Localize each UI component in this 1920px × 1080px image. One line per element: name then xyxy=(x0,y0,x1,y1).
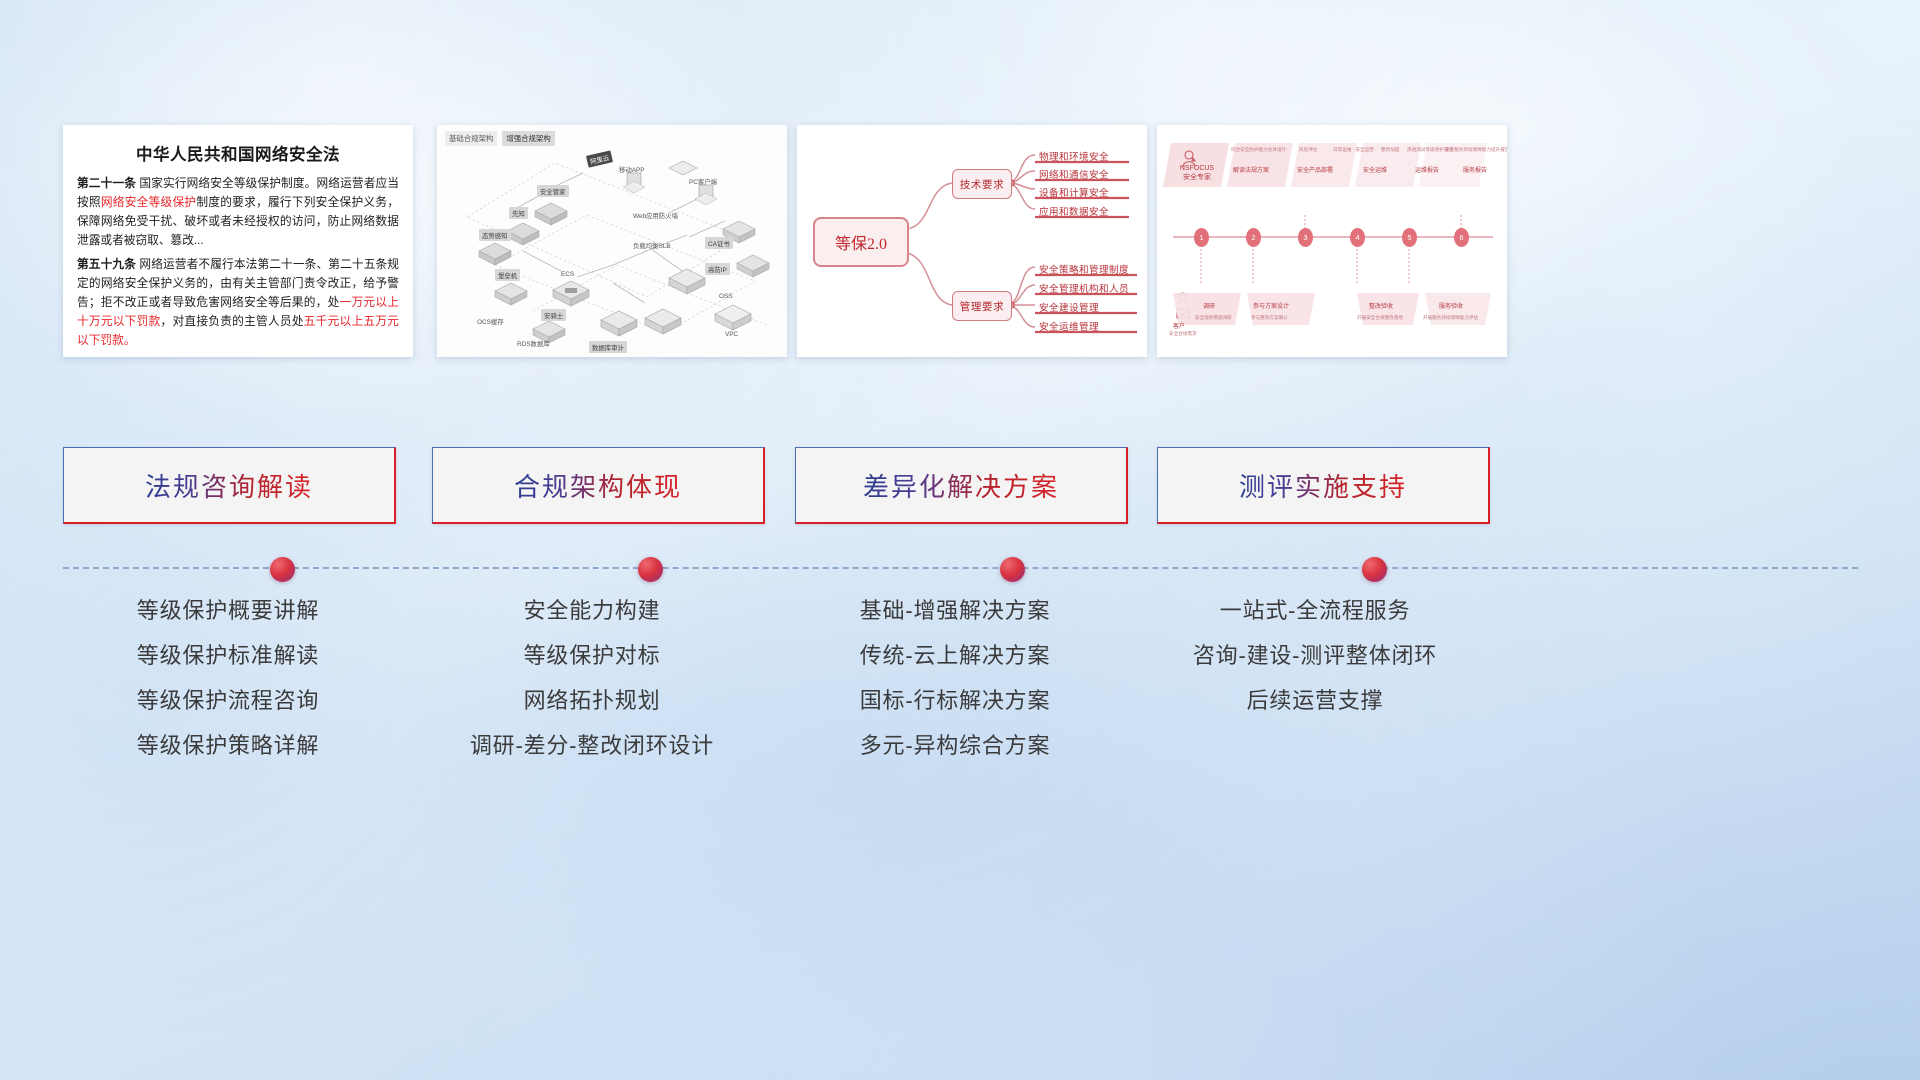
timeline-dot-1[interactable] xyxy=(270,557,295,582)
card-cybersecurity-law[interactable]: 中华人民共和国网络安全法 第二十一条 国家实行网络安全等级保护制度。网络运营者应… xyxy=(63,125,413,357)
roadmap-bottom-step-2: 参与方案设计 xyxy=(1253,301,1289,310)
heading-row: 法规咨询解读 合规架构体现 差异化解决方案 测评实施支持 xyxy=(0,447,1920,523)
list-item: 网络拓扑规划 xyxy=(412,690,772,712)
heading-box-assessment[interactable]: 测评实施支持 xyxy=(1157,447,1490,524)
heading-label-assessment: 测评实施支持 xyxy=(1239,467,1407,504)
heading-box-solution[interactable]: 差异化解决方案 xyxy=(795,447,1128,524)
arch-node-ocs-cache: OCS缓存 xyxy=(477,317,504,326)
mindmap-leaf-ops-mgmt: 安全运维管理 xyxy=(1039,319,1099,333)
arch-node-anti-ddos-ip: 高防IP xyxy=(705,263,730,275)
list-item: 多元-异构综合方案 xyxy=(775,735,1135,757)
heading-label-solution: 差异化解决方案 xyxy=(863,467,1059,504)
list-item: 等级保护流程咨询 xyxy=(48,690,408,712)
arch-node-pc-client: PC客户端 xyxy=(689,177,717,186)
heading-box-regulation[interactable]: 法规咨询解读 xyxy=(63,447,396,524)
roadmap-top-tiny-6: 安全服务持续保障能力提升报告 xyxy=(1445,147,1507,153)
roadmap-step-number-1: 1 xyxy=(1194,228,1209,247)
timeline-dot-3[interactable] xyxy=(1000,557,1025,582)
mindmap-leaf-physical-env: 物理和环境安全 xyxy=(1039,149,1109,163)
list-item: 传统-云上解决方案 xyxy=(775,645,1135,667)
arch-node-security-butler: 安全管家 xyxy=(537,185,569,197)
law-article-21-label: 第二十一条 xyxy=(77,177,136,190)
card-mindmap-dengbao[interactable]: 等保2.0 技术要求 管理要求 物理和环境安全 网络和通信安全 设备和计算安全 … xyxy=(797,125,1147,357)
roadmap-brand: NSFOCUS 安全专家 xyxy=(1169,161,1225,185)
arch-node-rds-db: RDS数据库 xyxy=(517,339,550,348)
roadmap-top-tiny-1: 综合安全防护能力总体设计 xyxy=(1231,147,1286,153)
roadmap-bottom-tiny-2: 参与整改方案确认 xyxy=(1251,315,1288,321)
arch-node-ecs: ECS xyxy=(561,271,574,278)
heading-box-architecture[interactable]: 合规架构体现 xyxy=(432,447,765,524)
list-item: 基础-增强解决方案 xyxy=(775,600,1135,622)
mindmap-leaf-app-data: 应用和数据安全 xyxy=(1039,204,1109,218)
roadmap-bottom-tiny-1: 安全现状摸底调研 xyxy=(1195,315,1232,321)
roadmap-top-step-1: 解读法规方案 xyxy=(1233,165,1269,174)
list-item: 等级保护概要讲解 xyxy=(48,600,408,622)
mindmap-leaf-network-comm: 网络和通信安全 xyxy=(1039,167,1109,181)
card-nsfocus-roadmap[interactable]: NSFOCUS 安全专家 解读法规方案 安全产品部署 安全运维 运维报告 服务报… xyxy=(1157,125,1507,357)
card-compliance-architecture[interactable]: 基础合规架构 增强合规架构 xyxy=(437,125,787,357)
arch-node-vpc: VPC xyxy=(725,331,738,338)
mindmap-leaf-device-compute: 设备和计算安全 xyxy=(1039,185,1109,199)
list-column-architecture: 安全能力构建 等级保护对标 网络拓扑规划 调研-差分-整改闭环设计 xyxy=(412,600,772,780)
image-card-row: 中华人民共和国网络安全法 第二十一条 国家实行网络安全等级保护制度。网络运营者应… xyxy=(0,125,1920,360)
timeline-track xyxy=(63,567,1858,572)
mindmap-leaf-org-personnel: 安全管理机构和人员 xyxy=(1039,281,1129,295)
law-article-59-label: 第五十九条 xyxy=(77,258,136,271)
mindmap-leaf-construction-mgmt: 安全建设管理 xyxy=(1039,300,1099,314)
arch-node-slb: 负载均衡SLB xyxy=(633,241,671,250)
roadmap-step-number-5: 5 xyxy=(1402,228,1417,247)
list-item: 安全能力构建 xyxy=(412,600,772,622)
roadmap-customer-tiny: 安全合规需求 xyxy=(1169,331,1197,337)
roadmap-brand-role: 安全专家 xyxy=(1183,173,1211,182)
heading-label-regulation: 法规咨询解读 xyxy=(145,467,313,504)
timeline-dot-2[interactable] xyxy=(638,557,663,582)
list-item: 调研-差分-整改闭环设计 xyxy=(412,735,772,757)
architecture-diagram: 基础合规架构 增强合规架构 xyxy=(437,125,787,357)
roadmap-customer-label: 客户 xyxy=(1173,321,1185,330)
timeline-dot-4[interactable] xyxy=(1362,557,1387,582)
law-title: 中华人民共和国网络安全法 xyxy=(77,141,399,165)
mindmap-branch-technical: 技术要求 xyxy=(952,169,1012,199)
arch-node-xianzhi: 先知 xyxy=(509,207,528,219)
roadmap-step-number-2: 2 xyxy=(1246,228,1261,247)
mindmap-diagram: 等保2.0 技术要求 管理要求 物理和环境安全 网络和通信安全 设备和计算安全 … xyxy=(797,125,1147,357)
roadmap-step-number-4: 4 xyxy=(1350,228,1365,247)
list-item: 后续运营支撑 xyxy=(1135,690,1495,712)
roadmap-top-step-5: 服务报告 xyxy=(1463,165,1487,174)
list-item: 国标-行标解决方案 xyxy=(775,690,1135,712)
roadmap-diagram: NSFOCUS 安全专家 解读法规方案 安全产品部署 安全运维 运维报告 服务报… xyxy=(1157,125,1507,357)
roadmap-brand-name: NSFOCUS xyxy=(1180,164,1214,173)
arch-node-anqishi: 安骑士 xyxy=(541,309,566,321)
law-article-21: 第二十一条 国家实行网络安全等级保护制度。网络运营者应当按照网络安全等级保护制度… xyxy=(77,175,399,251)
law-article-59-text-b: ，对直接负责的主管人员处 xyxy=(161,315,304,328)
roadmap-bottom-right-tiny-2: 开展服务持续保障能力评估 xyxy=(1423,315,1478,321)
list-column-solution: 基础-增强解决方案 传统-云上解决方案 国标-行标解决方案 多元-异构综合方案 xyxy=(775,600,1135,780)
roadmap-bottom-right-2: 服务验收 xyxy=(1439,301,1463,310)
arch-node-db-audit: 数据库审计 xyxy=(589,341,627,353)
roadmap-top-step-4: 运维报告 xyxy=(1415,165,1439,174)
mindmap-root: 等保2.0 xyxy=(813,217,909,267)
roadmap-top-step-3: 安全运维 xyxy=(1363,165,1387,174)
arch-node-ca-cert: CA证书 xyxy=(705,237,733,249)
arch-node-situation-awareness: 态势感知 xyxy=(479,229,511,241)
list-item: 等级保护对标 xyxy=(412,645,772,667)
roadmap-step-number-3: 3 xyxy=(1298,228,1313,247)
list-item: 一站式-全流程服务 xyxy=(1135,600,1495,622)
list-item: 咨询-建设-测评整体闭环 xyxy=(1135,645,1495,667)
mindmap-branch-management: 管理要求 xyxy=(952,291,1012,321)
roadmap-step-number-6: 6 xyxy=(1454,228,1469,247)
law-document: 中华人民共和国网络安全法 第二十一条 国家实行网络安全等级保护制度。网络运营者应… xyxy=(63,125,413,357)
mindmap-leaf-policy-system: 安全策略和管理制度 xyxy=(1039,262,1129,276)
roadmap-bottom-right-1: 整改验收 xyxy=(1369,301,1393,310)
heading-label-architecture: 合规架构体现 xyxy=(514,467,682,504)
law-article-21-highlight: 网络安全等级保护 xyxy=(101,196,196,209)
arch-node-mobile-app: 移动APP xyxy=(619,165,645,174)
roadmap-bottom-right-tiny-1: 开展安全合规整改落地 xyxy=(1357,315,1403,321)
roadmap-top-tiny-2: 风险评估 xyxy=(1299,147,1317,153)
arch-node-bastion-host: 堡垒机 xyxy=(495,269,520,281)
list-item: 等级保护策略详解 xyxy=(48,735,408,757)
arch-node-waf: Web应用防火墙 xyxy=(633,211,678,220)
arch-node-oss: OSS xyxy=(719,293,733,300)
law-article-59: 第五十九条 网络运营者不履行本法第二十一条、第二十五条规定的网络安全保护义务的，… xyxy=(77,256,399,351)
list-item: 等级保护标准解读 xyxy=(48,645,408,667)
roadmap-top-tiny-3: 日常运维 · 安全运营 xyxy=(1333,147,1374,153)
roadmap-bottom-step-1: 调研 xyxy=(1203,301,1215,310)
list-column-assessment: 一站式-全流程服务 咨询-建设-测评整体闭环 后续运营支撑 xyxy=(1135,600,1495,735)
list-column-regulation: 等级保护概要讲解 等级保护标准解读 等级保护流程咨询 等级保护策略详解 xyxy=(48,600,408,780)
roadmap-top-step-2: 安全产品部署 xyxy=(1297,165,1333,174)
roadmap-top-tiny-4: 整改加固 xyxy=(1381,147,1399,153)
